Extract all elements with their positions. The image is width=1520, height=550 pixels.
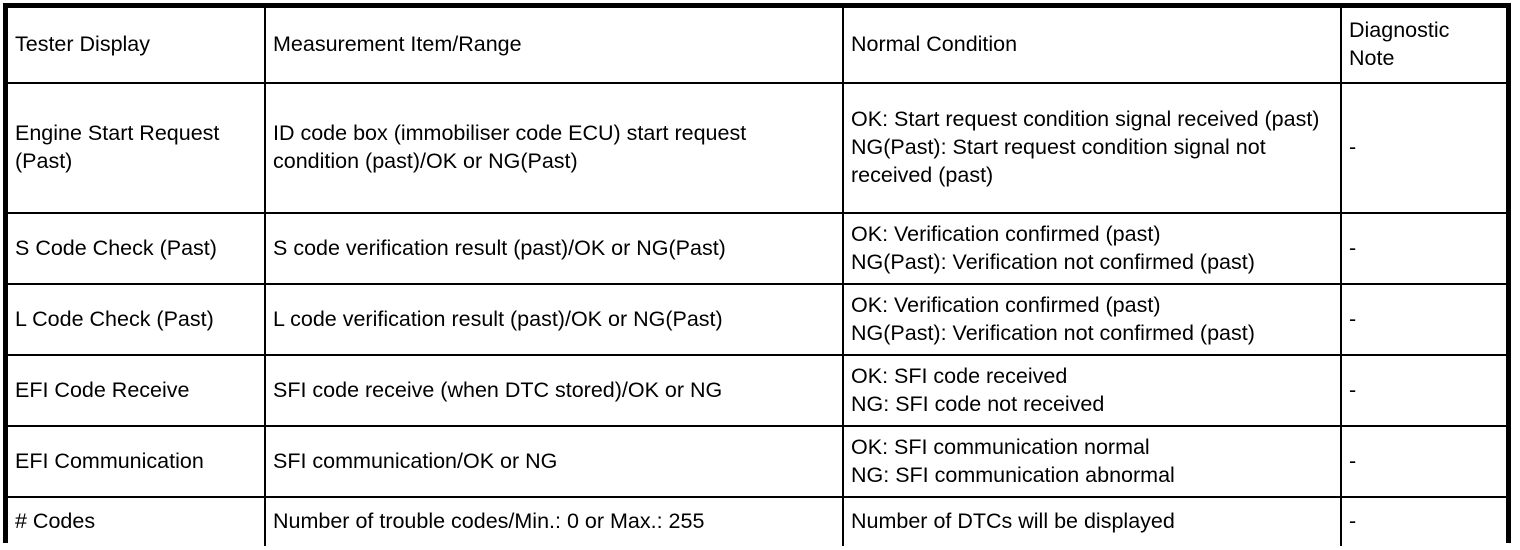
normal-condition-ok: OK: SFI communication normal [851, 434, 1333, 462]
table-row: # Codes Number of trouble codes/Min.: 0 … [8, 497, 1506, 546]
normal-condition-ok: OK: Verification confirmed (past) [851, 221, 1333, 249]
normal-condition-ok: OK: SFI code received [851, 363, 1333, 391]
table-header: Tester Display Measurement Item/Range No… [8, 8, 1506, 83]
normal-condition-ok: OK: Verification confirmed (past) [851, 292, 1333, 320]
table-row: Engine Start Request (Past) ID code box … [8, 83, 1506, 213]
table-row: L Code Check (Past) L code verification … [8, 284, 1506, 355]
normal-condition-ok: Number of DTCs will be displayed [851, 508, 1333, 536]
cell-normal-condition: OK: Verification confirmed (past) NG(Pas… [843, 213, 1341, 284]
cell-diagnostic-note: - [1341, 213, 1506, 284]
cell-tester-display: Engine Start Request (Past) [8, 83, 265, 213]
cell-normal-condition: OK: Start request condition signal recei… [843, 83, 1341, 213]
cell-measurement-item: Number of trouble codes/Min.: 0 or Max.:… [265, 497, 843, 546]
normal-condition-ng: NG: SFI communication abnormal [851, 462, 1333, 490]
cell-tester-display: EFI Communication [8, 426, 265, 497]
cell-tester-display: EFI Code Receive [8, 355, 265, 426]
cell-diagnostic-note: - [1341, 497, 1506, 546]
table-row: EFI Communication SFI communication/OK o… [8, 426, 1506, 497]
column-header-diagnostic-note-line1: Diagnostic [1349, 18, 1449, 42]
cell-normal-condition: Number of DTCs will be displayed [843, 497, 1341, 546]
column-header-diagnostic-note: Diagnostic Note [1341, 8, 1506, 83]
cell-measurement-item: ID code box (immobiliser code ECU) start… [265, 83, 843, 213]
cell-measurement-item: SFI communication/OK or NG [265, 426, 843, 497]
cell-normal-condition: OK: SFI code received NG: SFI code not r… [843, 355, 1341, 426]
normal-condition-ok: OK: Start request condition signal recei… [851, 106, 1333, 134]
cell-diagnostic-note: - [1341, 426, 1506, 497]
cell-measurement-item: L code verification result (past)/OK or … [265, 284, 843, 355]
normal-condition-ng: NG(Past): Verification not confirmed (pa… [851, 320, 1333, 348]
cell-diagnostic-note: - [1341, 83, 1506, 213]
cell-normal-condition: OK: SFI communication normal NG: SFI com… [843, 426, 1341, 497]
cell-measurement-item: S code verification result (past)/OK or … [265, 213, 843, 284]
normal-condition-ng: NG(Past): Start request condition signal… [851, 134, 1333, 190]
cell-diagnostic-note: - [1341, 355, 1506, 426]
table-row: S Code Check (Past) S code verification … [8, 213, 1506, 284]
cell-tester-display: L Code Check (Past) [8, 284, 265, 355]
column-header-normal-condition: Normal Condition [843, 8, 1341, 83]
column-header-diagnostic-note-line2: Note [1349, 46, 1394, 70]
column-header-tester-display: Tester Display [8, 8, 265, 83]
table-body: Engine Start Request (Past) ID code box … [8, 83, 1506, 546]
table-header-row: Tester Display Measurement Item/Range No… [8, 8, 1506, 83]
cell-tester-display: S Code Check (Past) [8, 213, 265, 284]
normal-condition-ng: NG: SFI code not received [851, 391, 1333, 419]
cell-tester-display: # Codes [8, 497, 265, 546]
cell-measurement-item: SFI code receive (when DTC stored)/OK or… [265, 355, 843, 426]
cell-normal-condition: OK: Verification confirmed (past) NG(Pas… [843, 284, 1341, 355]
table-row: EFI Code Receive SFI code receive (when … [8, 355, 1506, 426]
cell-diagnostic-note: - [1341, 284, 1506, 355]
tester-data-list-table: Tester Display Measurement Item/Range No… [8, 8, 1506, 546]
column-header-measurement-item: Measurement Item/Range [265, 8, 843, 83]
data-list-table-container: Tester Display Measurement Item/Range No… [3, 3, 1511, 543]
normal-condition-ng: NG(Past): Verification not confirmed (pa… [851, 249, 1333, 277]
